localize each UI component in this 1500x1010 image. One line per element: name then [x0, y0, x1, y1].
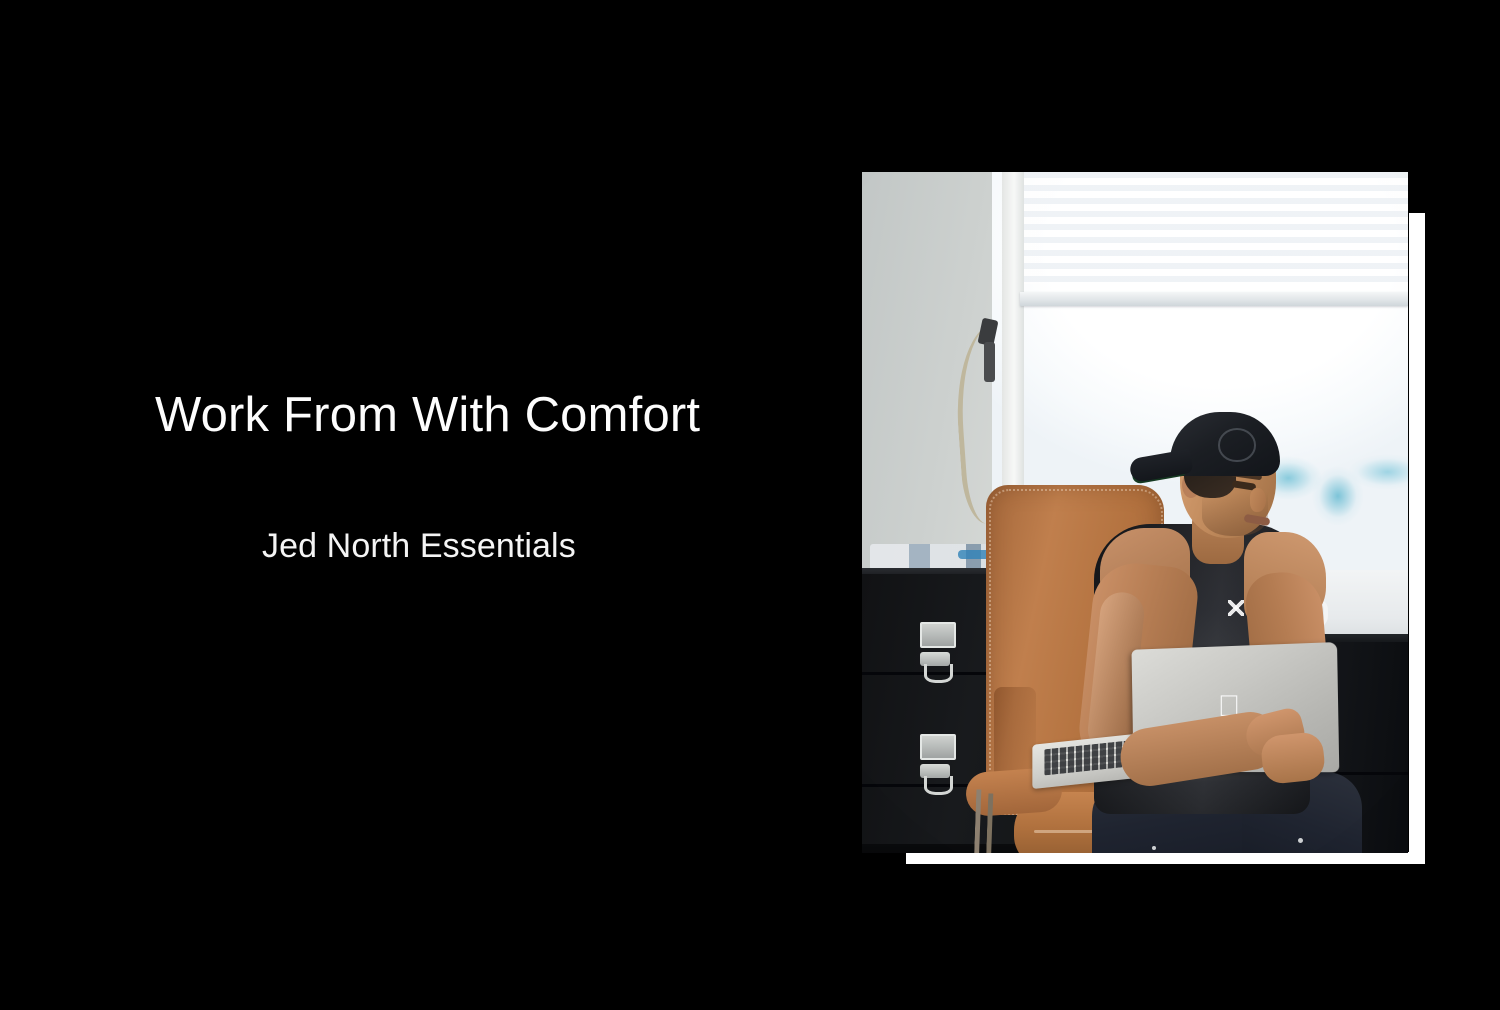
pants-paint-speck-4: [1298, 838, 1303, 843]
chair-backrest-crease: [994, 687, 1036, 779]
photo-frame-right-band: [1409, 213, 1425, 864]
presentation-slide: Work From With Comfort Jed North Essenti…: [0, 0, 1500, 1010]
person-nose: [1250, 488, 1266, 512]
chair-armrest-bar-2: [984, 793, 1028, 853]
window-blinds: [1022, 172, 1408, 284]
cabinet-left-label-holder-2: [920, 734, 956, 760]
lifestyle-photo: : [862, 172, 1408, 853]
page-title: Work From With Comfort: [155, 386, 700, 444]
tank-top-brand-icon: [1228, 600, 1244, 616]
cabinet-left-label-holder-1: [920, 622, 956, 648]
cabinet-left-pull-loop-1: [924, 664, 953, 683]
window-rail: [1020, 292, 1408, 306]
baseball-cap-panel-logo-icon: [1218, 428, 1256, 462]
cabinet-left-pull-loop-2: [924, 776, 953, 795]
pants-paint-speck-2: [1152, 846, 1156, 850]
desk-lamp-neck: [984, 342, 995, 382]
slide-subtitle: Jed North Essentials: [262, 525, 576, 567]
slide-text-block: Work From With Comfort Jed North Essenti…: [0, 0, 840, 1010]
photo-frame-bottom-band: [906, 852, 1425, 864]
